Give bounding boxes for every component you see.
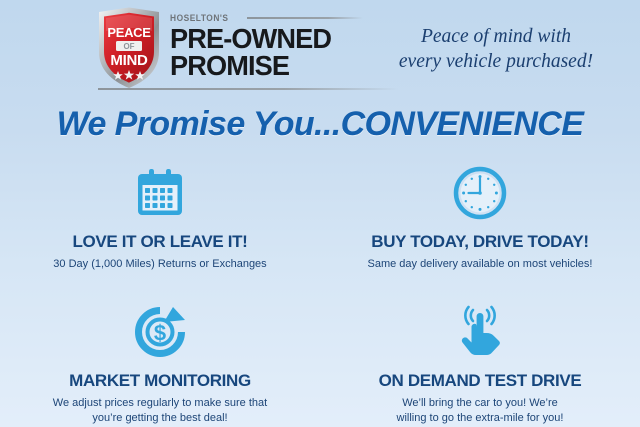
feature-desc-line1: 30 Day (1,000 Miles) Returns or Exchange… [53,258,266,270]
svg-text:OF: OF [123,42,134,51]
features-grid: LOVE IT OR LEAVE IT! 30 Day (1,000 Miles… [0,158,640,426]
feature-title: BUY TODAY, DRIVE TODAY! [371,232,588,252]
feature-desc-line1: Same day delivery available on most vehi… [367,258,592,270]
dealer-name: HOSELTON'S [170,13,229,24]
feature-description: We’ll bring the car to you! We’re willin… [397,396,564,426]
feature-title: MARKET MONITORING [69,371,251,391]
feature-on-demand-test-drive: ON DEMAND TEST DRIVE We’ll bring the car… [320,291,640,426]
feature-description: 30 Day (1,000 Miles) Returns or Exchange… [53,257,266,272]
brand-wordmark: HOSELTON'S PRE-OWNED PROMISE [170,6,363,79]
brand-title-line2: PROMISE [170,52,357,79]
promotional-poster: PEACE OF MIND HOSELTON'S PRE-O [0,0,640,427]
brand-title-line1: PRE-OWNED [170,25,357,52]
feature-description: We adjust prices regularly to make sure … [53,396,267,426]
tap-hand-icon [453,301,507,363]
feature-desc-line1: We adjust prices regularly to make sure … [53,397,267,409]
tagline-line1: Peace of mind with [368,24,624,49]
feature-description: Same day delivery available on most vehi… [367,257,592,272]
brand-divider-rule [247,17,363,19]
svg-text:MIND: MIND [110,52,148,69]
feature-desc-line1: We’ll bring the car to you! We’re [402,397,558,409]
brand-lockup: PEACE OF MIND HOSELTON'S PRE-O [96,6,363,90]
page-title: We Promise You...CONVENIENCE [0,104,640,144]
feature-buy-today-drive-today: BUY TODAY, DRIVE TODAY! Same day deliver… [320,158,640,291]
svg-text:PEACE: PEACE [107,25,151,40]
peace-of-mind-shield-icon: PEACE OF MIND [96,6,162,90]
svg-text:$: $ [154,321,166,346]
feature-title: LOVE IT OR LEAVE IT! [73,232,248,252]
feature-title: ON DEMAND TEST DRIVE [379,371,582,391]
feature-love-it-or-leave-it: LOVE IT OR LEAVE IT! 30 Day (1,000 Miles… [0,158,320,291]
dollar-refresh-icon: $ [133,301,187,363]
feature-market-monitoring: $ MARKET MONITORING We adjust prices reg… [0,291,320,426]
header: PEACE OF MIND HOSELTON'S PRE-O [0,0,640,100]
header-bottom-rule [98,88,398,90]
calendar-icon [134,162,186,224]
tagline: Peace of mind with every vehicle purchas… [368,24,624,74]
feature-desc-line2: willing to go the extra-mile for you! [397,411,564,426]
tagline-line2: every vehicle purchased! [368,49,624,74]
clock-icon [453,162,507,224]
feature-desc-line2: you’re getting the best deal! [53,411,267,426]
